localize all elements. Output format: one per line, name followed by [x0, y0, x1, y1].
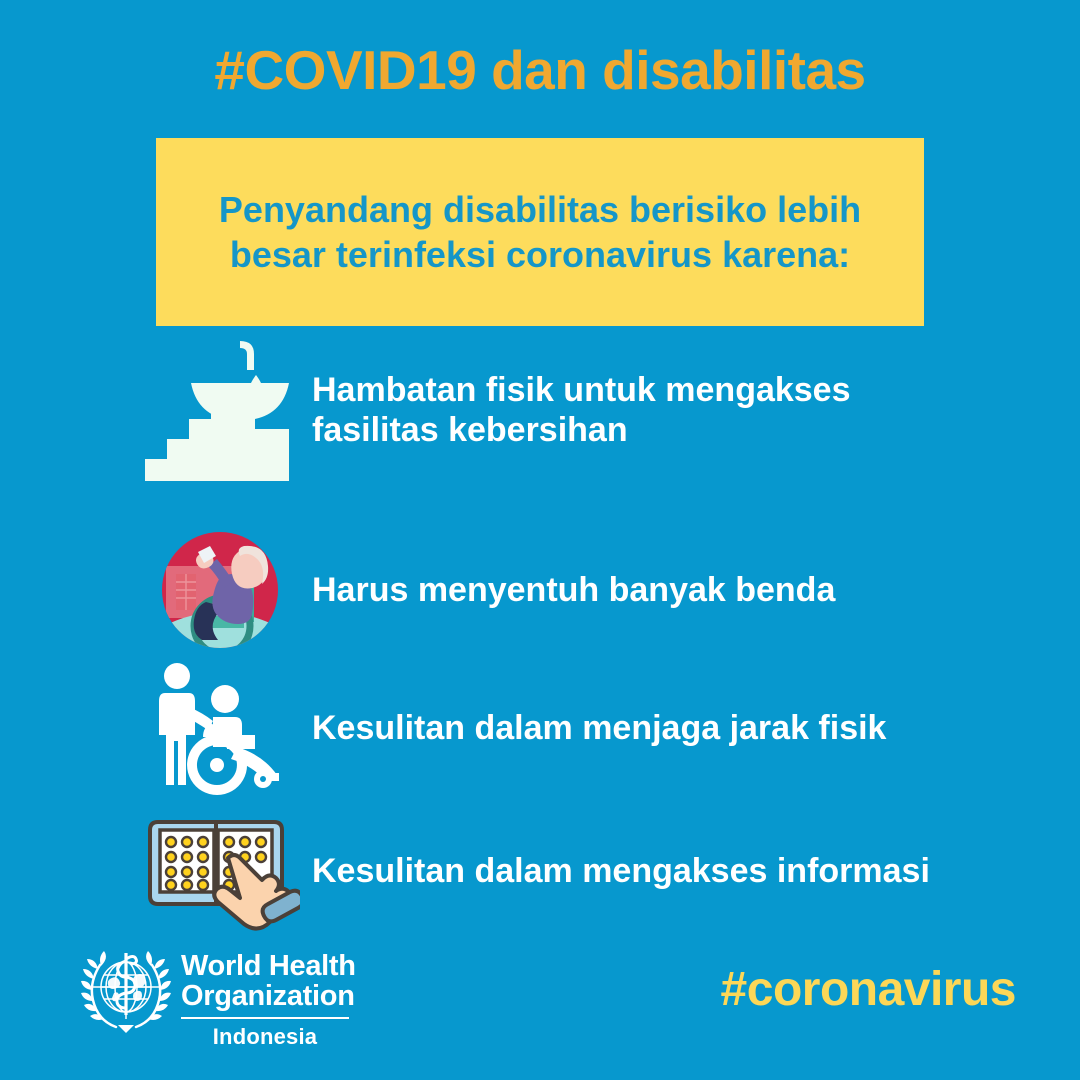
infographic-poster: #COVID19 dan disabilitas Penyandang disa… [0, 0, 1080, 1080]
who-line-1: World Health [181, 951, 356, 981]
point-row-1: Hambatan fisik untuk mengakses fasilitas… [140, 330, 1040, 490]
page-title: #COVID19 dan disabilitas [0, 42, 1080, 100]
point-text-4-line1: Kesulitan dalam mengakses informasi [312, 851, 930, 891]
point-text-4: Kesulitan dalam mengakses informasi [312, 851, 930, 891]
who-emblem-icon [80, 945, 172, 1042]
point-text-1-line1: Hambatan fisik untuk mengakses [312, 370, 851, 410]
who-line-2: Organization [181, 981, 356, 1011]
point-row-3: Kesulitan dalam menjaga jarak fisik [140, 658, 1040, 798]
callout-text: Penyandang disabilitas berisiko lebih be… [156, 187, 924, 278]
who-wordmark: World Health Organization Indonesia [181, 945, 356, 1050]
point-text-2-line1: Harus menyentuh banyak benda [312, 570, 835, 610]
hashtag-coronavirus: #coronavirus [721, 962, 1016, 1017]
point-text-3-line1: Kesulitan dalam menjaga jarak fisik [312, 708, 886, 748]
callout-box: Penyandang disabilitas berisiko lebih be… [156, 138, 924, 326]
sink-stairs-icon [140, 333, 300, 488]
caregiver-wheelchair-icon [140, 661, 300, 796]
who-divider [181, 1017, 349, 1019]
braille-book-hand-icon [140, 810, 300, 932]
wheelchair-user-touching-icon [140, 530, 300, 650]
point-text-2: Harus menyentuh banyak benda [312, 570, 835, 610]
point-text-1: Hambatan fisik untuk mengakses fasilitas… [312, 370, 851, 450]
point-row-4: Kesulitan dalam mengakses informasi [140, 806, 1040, 936]
point-text-1-line2: fasilitas kebersihan [312, 410, 851, 450]
who-logo: World Health Organization Indonesia [80, 945, 356, 1050]
who-country-label: Indonesia [181, 1024, 349, 1050]
point-row-2: Harus menyentuh banyak benda [140, 522, 1040, 658]
point-text-3: Kesulitan dalam menjaga jarak fisik [312, 708, 886, 748]
